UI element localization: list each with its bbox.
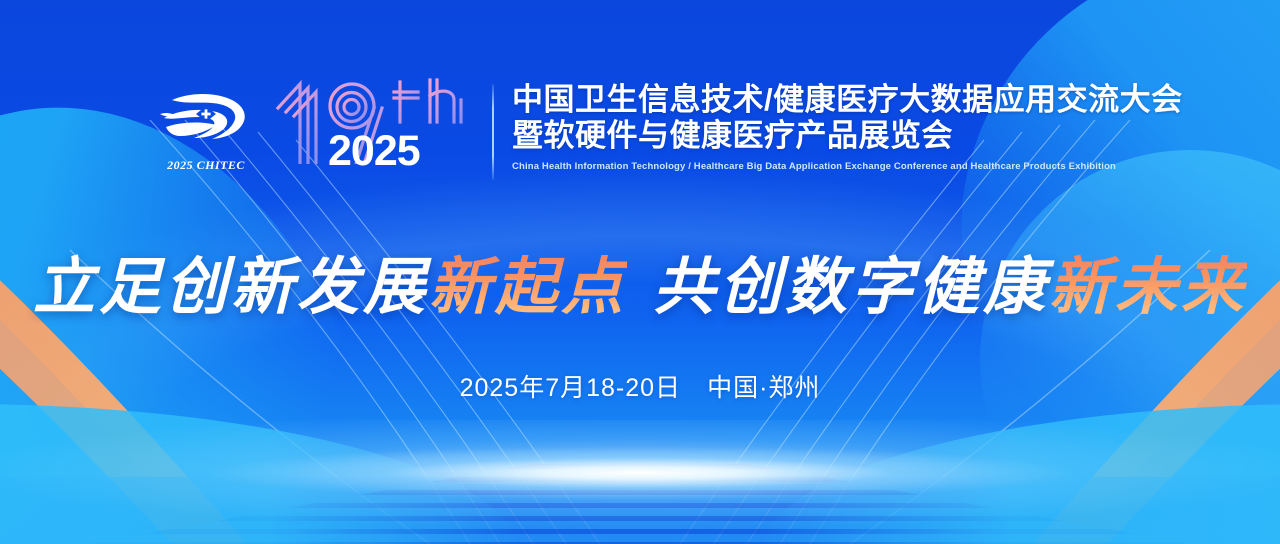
- slogan-part1-accent: 新起点: [429, 254, 627, 322]
- title-block: 中国卫生信息技术/健康医疗大数据应用交流大会 暨软硬件与健康医疗产品展览会 Ch…: [512, 82, 1183, 172]
- slogan-part2-white: 共创数字健康: [653, 254, 1049, 322]
- chitec-bird-cross-logo-icon: [154, 84, 258, 154]
- chitec-logo-caption: 2025 CHITEC: [167, 158, 245, 173]
- event-date: 2025年7月18-20日: [460, 374, 681, 402]
- anniversary-mark: 2025: [270, 82, 482, 182]
- anniversary-year: 2025: [328, 130, 420, 173]
- conference-slogan: 立足创新发展新起点共创数字健康新未来: [0, 236, 1280, 326]
- banner-header: 2025 CHITEC: [150, 82, 1183, 182]
- conference-title-english: China Health Information Technology / He…: [512, 161, 1183, 172]
- slogan-part1-white: 立足创新发展: [33, 254, 429, 322]
- slogan-part2-accent: 新未来: [1049, 254, 1247, 322]
- chitec-logo: 2025 CHITEC: [150, 82, 262, 173]
- event-location: 中国·郑州: [707, 374, 820, 402]
- header-divider: [492, 84, 494, 180]
- conference-banner: 2025 CHITEC: [0, 0, 1280, 544]
- event-dateline: 2025年7月18-20日中国·郑州: [0, 368, 1280, 404]
- conference-title-line-1: 中国卫生信息技术/健康医疗大数据应用交流大会: [512, 82, 1183, 118]
- conference-title-line-2: 暨软硬件与健康医疗产品展览会: [512, 118, 1183, 154]
